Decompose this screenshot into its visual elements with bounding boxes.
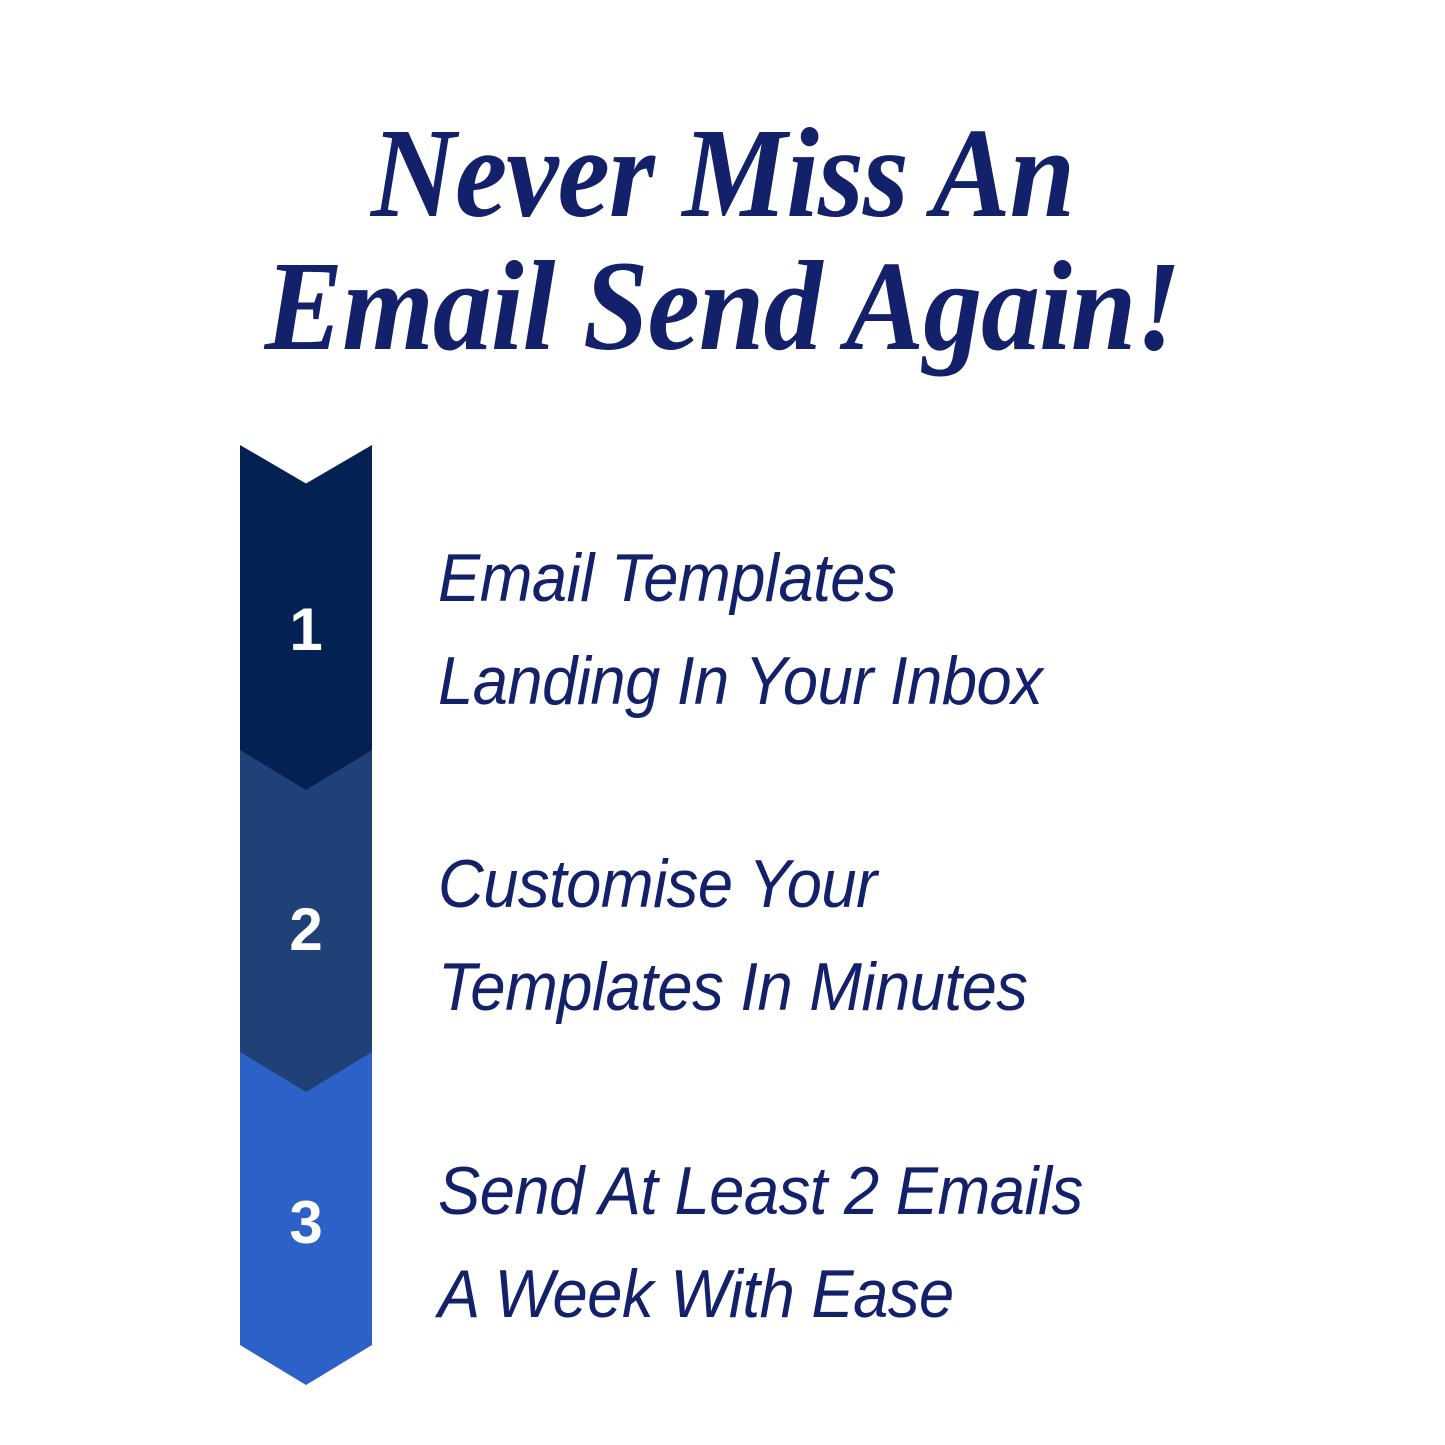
step-text-1-line-2: Landing In Your Inbox <box>438 630 1163 733</box>
chevron-column: 1 2 3 <box>240 440 372 1385</box>
step-text-2-line-1: Customise Your <box>438 833 1163 936</box>
step-text-3: Send At Least 2 Emails A Week With Ease <box>438 1140 1163 1347</box>
step-text-3-line-1: Send At Least 2 Emails <box>438 1140 1163 1243</box>
step-chevron-3: 3 <box>240 1052 372 1385</box>
steps-list: 1 2 3 Email Templates Landing In Your In… <box>0 0 1445 1445</box>
step-text-2-line-2: Templates In Minutes <box>438 936 1163 1039</box>
step-number-2: 2 <box>289 900 322 960</box>
step-text-2: Customise Your Templates In Minutes <box>438 833 1163 1040</box>
step-chevron-2: 2 <box>240 750 372 1098</box>
step-number-3: 3 <box>289 1193 322 1253</box>
step-text-3-line-2: A Week With Ease <box>438 1243 1163 1346</box>
step-text-1: Email Templates Landing In Your Inbox <box>438 527 1163 734</box>
step-number-1: 1 <box>289 600 322 660</box>
step-chevron-1: 1 <box>240 445 372 795</box>
step-text-1-line-1: Email Templates <box>438 527 1163 630</box>
